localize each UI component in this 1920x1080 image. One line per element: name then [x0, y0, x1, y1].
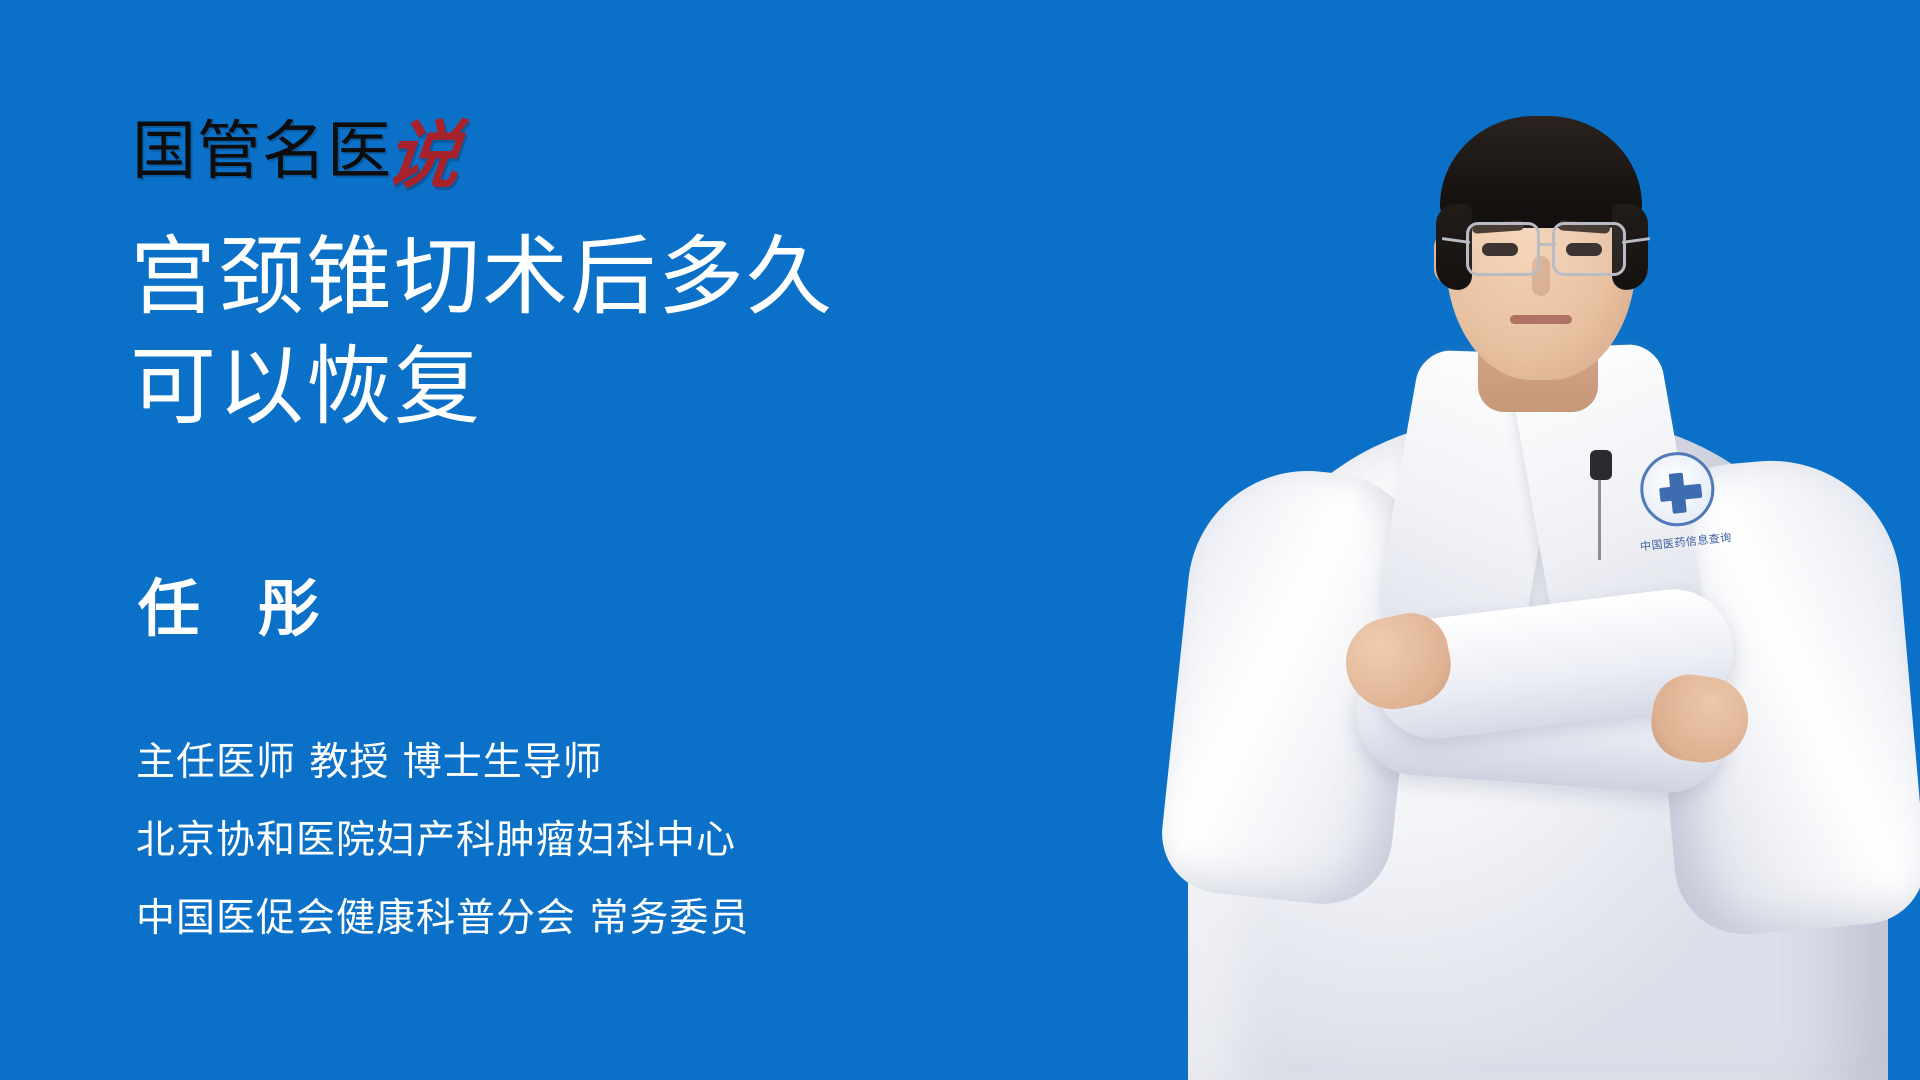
speaker-name: 任 彤	[138, 578, 338, 640]
coat-badge: 中国医药信息查询	[1627, 445, 1734, 564]
title-line-1: 宫颈锥切术后多久	[130, 222, 1130, 332]
badge-org-text: 中国医药信息查询	[1633, 528, 1738, 555]
glasses-lens-left	[1466, 222, 1540, 276]
speaker-portrait-photo: 中国医药信息查询	[1160, 0, 1920, 1080]
brand-logo-main-text: 国管名医	[132, 120, 392, 184]
credential-line: 主任医师 教授 博士生导师	[136, 724, 1036, 802]
mouth	[1510, 315, 1572, 324]
page-title: 宫颈锥切术后多久 可以恢复	[130, 222, 1130, 442]
glasses-lens-right	[1552, 222, 1626, 276]
brand-logo-accent-text: 说	[382, 122, 463, 190]
brand-logo: 国管名医 说	[132, 98, 460, 184]
speaker-credentials: 主任医师 教授 博士生导师 北京协和医院妇产科肿瘤妇科中心 中国医促会健康科普分…	[136, 724, 1036, 958]
cross-horizontal	[1659, 484, 1702, 502]
title-line-2: 可以恢复	[130, 332, 1130, 442]
credential-line: 北京协和医院妇产科肿瘤妇科中心	[136, 802, 1036, 880]
credential-line: 中国医促会健康科普分会 常务委员	[136, 880, 1036, 958]
video-cover-slide: 国管名医 说 宫颈锥切术后多久 可以恢复 任 彤 主任医师 教授 博士生导师 北…	[0, 0, 1920, 1080]
medical-cross-emblem-icon	[1637, 449, 1718, 530]
lapel-microphone	[1590, 450, 1612, 480]
microphone-wire	[1598, 476, 1601, 560]
glasses-bridge	[1538, 243, 1556, 246]
